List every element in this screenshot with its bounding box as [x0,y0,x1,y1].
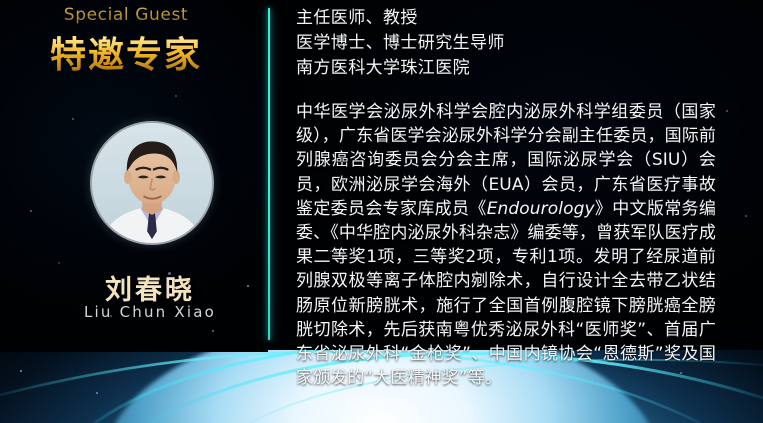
speaker-portrait [90,121,214,245]
speaker-titles: 主任医师、教授 医学博士、博士研究生导师 南方医科大学珠江医院 [296,6,726,81]
speaker-affiliation: 南方医科大学珠江医院 [296,56,726,81]
biography-part-2: 》中文版常务编委、《中华腔内泌尿外科杂志》编委等，曾获军队医疗成果二等奖1项，三… [296,199,716,388]
journal-name: Endourology [487,199,595,219]
special-guest-label-cn: 特邀专家 [0,26,252,78]
speaker-name-en: Liu Chun Xiao [0,303,300,321]
portrait-illustration [92,123,212,243]
special-guest-label: Special Guest [0,5,252,25]
speaker-biography: 中华医学会泌尿外科学会腔内泌尿外科学组委员（国家级），广东省医学会泌尿外科学分会… [296,100,716,390]
speaker-title-line-1: 主任医师、教授 [296,6,726,31]
presentation-slide: Special Guest 特邀专家 [0,0,763,423]
speaker-name-cn: 刘春晓 [0,268,300,307]
speaker-title-line-2: 医学博士、博士研究生导师 [296,31,726,56]
